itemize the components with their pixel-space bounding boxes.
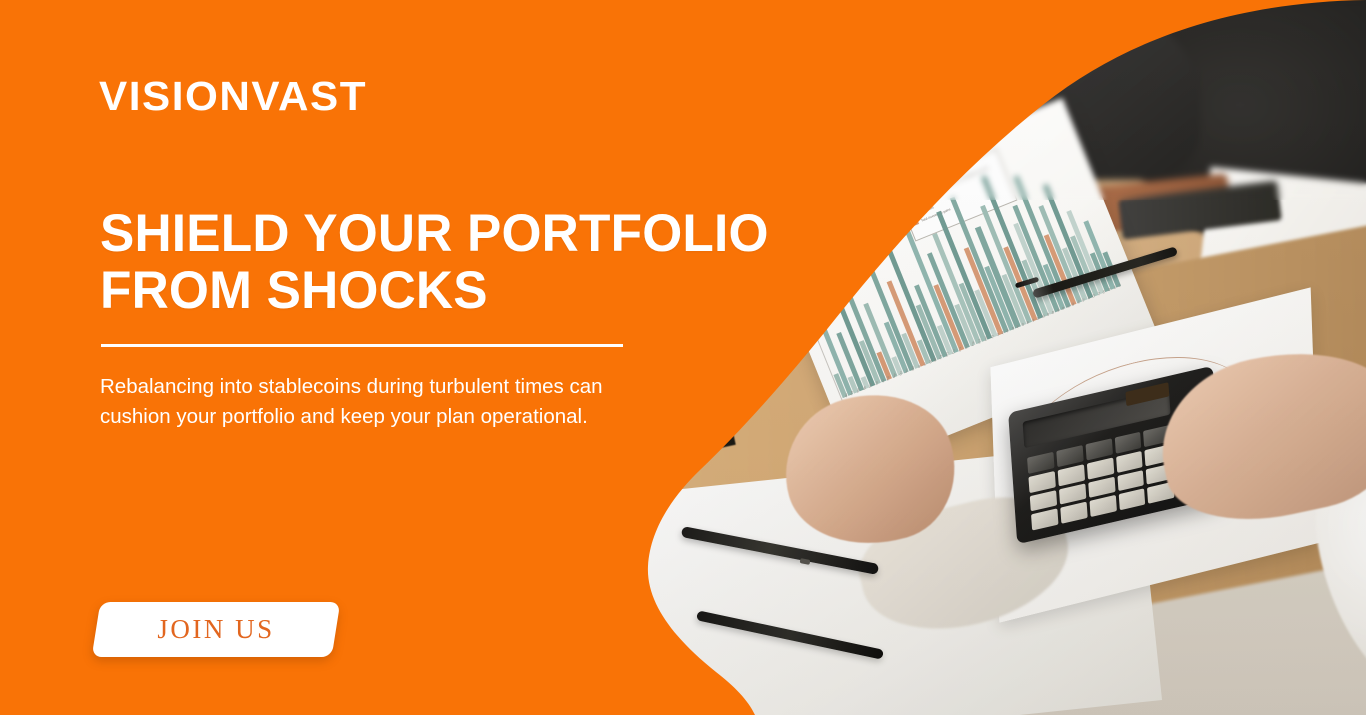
chart-category-label: B1 xyxy=(1037,315,1040,320)
chart-category-label: C5 xyxy=(1103,289,1106,294)
calculator-key xyxy=(1116,451,1143,473)
chart-category-label: Q3 xyxy=(929,359,932,364)
chart-category-label: FY8 xyxy=(985,335,989,341)
chart-category-label: A8 xyxy=(1027,319,1030,324)
calculator-key xyxy=(1027,452,1054,474)
page-title: SHIELD YOUR PORTFOLIO FROM SHOCKS xyxy=(100,205,818,319)
chart-category-label: A7 xyxy=(1022,321,1025,326)
chart-category-label: A3 xyxy=(1001,330,1004,335)
chart-category-label: Jun xyxy=(876,379,880,385)
chart-category-label: B8 xyxy=(1072,301,1075,306)
calculator-key xyxy=(1117,470,1144,492)
divider xyxy=(101,344,623,347)
chart-category-label: B3 xyxy=(1047,311,1050,316)
chart-category-label: FY7 xyxy=(978,337,982,343)
chart-category-label: B5 xyxy=(1057,307,1060,312)
chart-category-label: FY5 xyxy=(965,343,969,349)
calculator-key xyxy=(1118,488,1145,510)
join-us-button[interactable]: JOIN US xyxy=(92,602,341,657)
chart-category-label: Q1 xyxy=(918,363,921,368)
calculator-key xyxy=(1057,464,1084,486)
chart-category-label: C8 xyxy=(1118,282,1121,287)
chart-category-label: A5 xyxy=(1012,326,1015,331)
calculator-key xyxy=(1028,471,1055,493)
chart-category-label: C2 xyxy=(1087,295,1090,300)
calculator-key xyxy=(1087,457,1114,479)
calculator-key xyxy=(1031,509,1058,531)
chart-category-label: FY4 xyxy=(959,345,963,351)
chart-category-label: FY2 xyxy=(946,351,950,357)
chart-category-label: FY1 xyxy=(939,353,943,359)
chart-category-label: A4 xyxy=(1006,328,1009,333)
calculator-key xyxy=(1088,476,1115,498)
calculator-key xyxy=(1030,490,1057,512)
brand-logo[interactable]: VISIONVAST xyxy=(99,73,367,120)
chart-category-label: Oct xyxy=(900,370,904,376)
chart-category-label: Q2 xyxy=(923,361,926,366)
chart-category-label: C7 xyxy=(1113,284,1116,289)
chart-category-label: Apr xyxy=(863,385,867,391)
calculator-key xyxy=(1089,495,1116,517)
calculator-key xyxy=(1114,432,1141,454)
chart-category-label: B7 xyxy=(1067,303,1070,308)
content-column: VISIONVAST SHIELD YOUR PORTFOLIO FROM SH… xyxy=(0,0,700,715)
calculator-key xyxy=(1056,445,1083,467)
chart-category-label: Mar xyxy=(857,387,861,393)
calculator-key xyxy=(1085,438,1112,460)
chart-category-label: A2 xyxy=(996,332,999,337)
chart-category-label: A6 xyxy=(1017,324,1020,329)
chart-category-label: C6 xyxy=(1108,286,1111,291)
chart-category-label: FY6 xyxy=(972,340,976,346)
hero-subtext: Rebalancing into stablecoins during turb… xyxy=(100,372,610,432)
chart-category-label: Q4 xyxy=(934,357,937,362)
chart-category-label: A9 xyxy=(1032,317,1035,322)
cta-container: JOIN US xyxy=(96,602,346,662)
calculator-key xyxy=(1059,483,1086,505)
join-us-button-label: JOIN US xyxy=(96,602,336,657)
chart-category-label: Jan xyxy=(845,392,849,398)
chart-category-label: C3 xyxy=(1092,293,1095,298)
chart-category-label: C1 xyxy=(1082,297,1085,302)
chart-category-label: B2 xyxy=(1042,313,1045,318)
chart-category-label: B6 xyxy=(1062,305,1065,310)
chart-category-label: B9 xyxy=(1077,299,1080,304)
chart-category-label: Jul xyxy=(882,378,885,383)
chart-category-label: Dec xyxy=(912,364,916,370)
chart-category-label: A1 xyxy=(991,334,994,339)
chart-category-label: C4 xyxy=(1098,291,1101,296)
chart-category-label: May xyxy=(869,381,873,387)
promo-banner: Value Public equityNon-controlling inter… xyxy=(0,0,1366,715)
chart-category-label: FY3 xyxy=(952,348,956,354)
chart-category-label: B4 xyxy=(1052,309,1055,314)
calculator-key xyxy=(1060,502,1087,524)
chart-category-label: Sep xyxy=(893,372,897,378)
